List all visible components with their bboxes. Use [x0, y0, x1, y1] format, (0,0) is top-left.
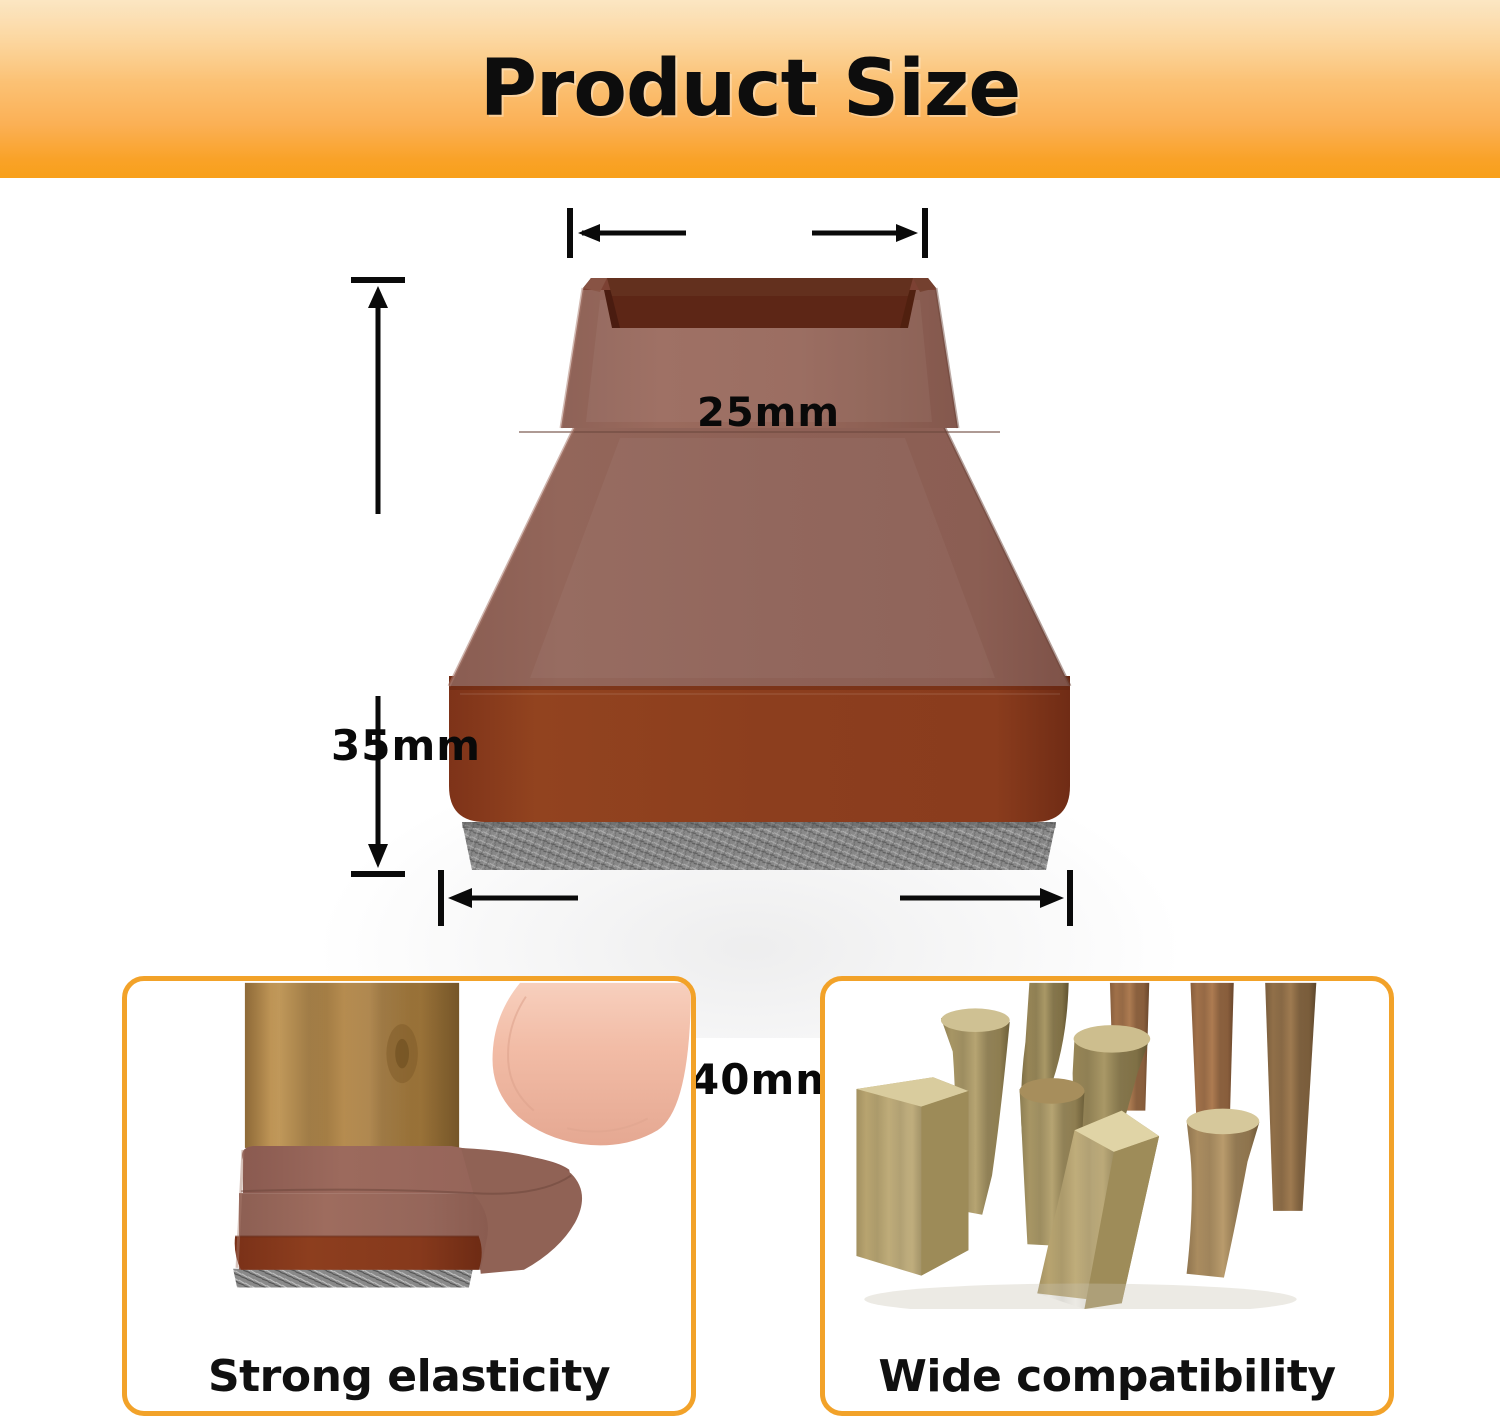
finger	[493, 983, 691, 1146]
panel-caption-elasticity: Strong elasticity	[127, 1355, 691, 1399]
wood-leg-back-tall-right	[1265, 983, 1316, 1211]
product-stage: 25mm 35mm 40mm	[0, 178, 1500, 960]
elasticity-illustration	[127, 981, 691, 1309]
page-title: Product Size	[0, 0, 1500, 178]
compatibility-illustration	[825, 981, 1389, 1309]
wood-leg	[245, 983, 459, 1148]
felt-pad-small	[233, 1269, 473, 1288]
feature-panel-elasticity[interactable]: Strong elasticity	[122, 976, 696, 1416]
dimension-bottom-width	[0, 178, 1500, 960]
wood-leg-back-center-right	[1191, 983, 1234, 1121]
dimension-label-bottom-width: 40mm	[690, 1055, 840, 1104]
panel-caption-compatibility: Wide compatibility	[825, 1355, 1389, 1399]
wood-leg-conical-right	[1187, 1109, 1260, 1278]
leg-cap-stretched	[235, 1146, 583, 1278]
feature-panel-compatibility[interactable]: Wide compatibility	[820, 976, 1394, 1416]
header-banner: Product Size	[0, 0, 1500, 178]
wood-leg-square-left	[856, 1077, 968, 1275]
